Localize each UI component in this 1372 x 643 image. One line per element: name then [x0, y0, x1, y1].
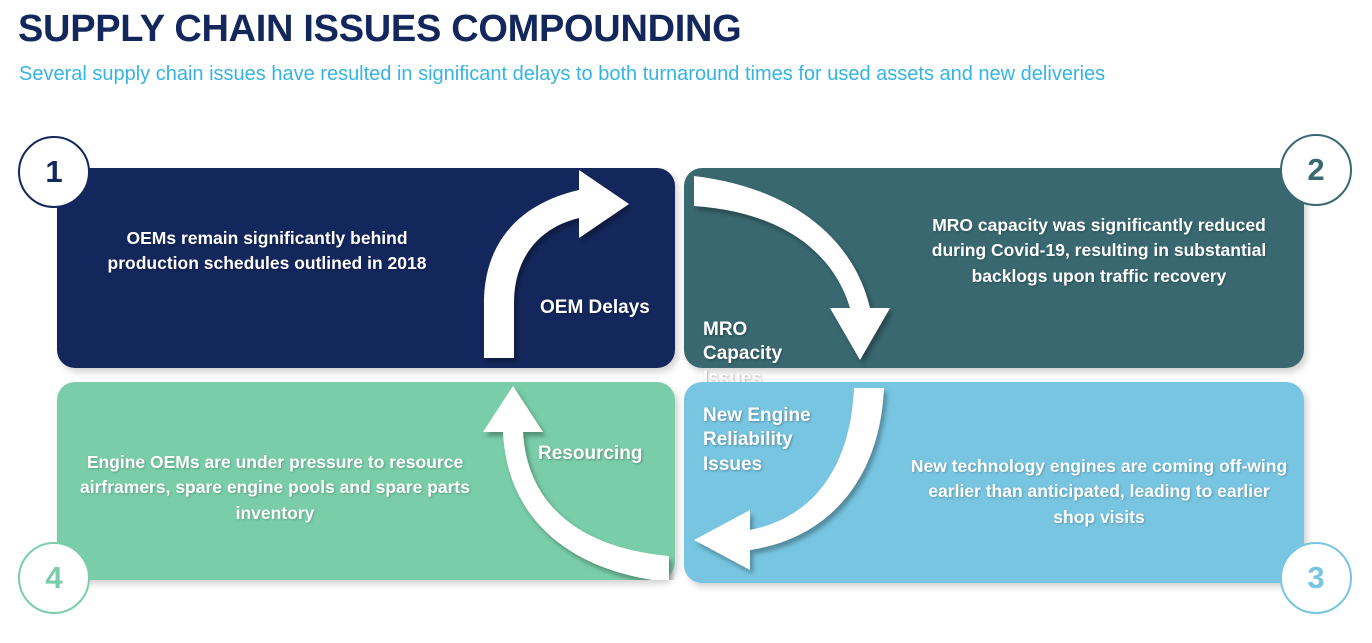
quadrant-2-body: MRO capacity was significantly reduced d… [904, 213, 1294, 289]
page-title: SUPPLY CHAIN ISSUES COMPOUNDING [18, 8, 741, 51]
page-subtitle: Several supply chain issues have resulte… [19, 63, 1105, 86]
quadrant-panel-1[interactable]: OEMs remain significantly behind product… [57, 168, 675, 368]
quadrant-2-arrow-label: MRO Capacity Issues [703, 318, 782, 391]
quadrant-4-arrow-label: Resourcing [538, 442, 643, 466]
step-badge-2[interactable]: 2 [1280, 134, 1352, 206]
step-badge-1[interactable]: 1 [18, 136, 90, 208]
quadrant-panel-3[interactable]: New technology engines are coming off-wi… [684, 382, 1304, 583]
quadrant-1-body: OEMs remain significantly behind product… [87, 226, 447, 277]
quadrant-panel-2[interactable]: MRO capacity was significantly reduced d… [684, 168, 1304, 368]
quadrant-3-arrow-label: New Engine Reliability Issues [703, 404, 811, 477]
cycle-diagram: OEMs remain significantly behind product… [0, 110, 1372, 643]
quadrant-3-body: New technology engines are coming off-wi… [909, 454, 1289, 530]
quadrant-4-body: Engine OEMs are under pressure to resour… [75, 450, 475, 526]
quadrant-1-arrow-label: OEM Delays [540, 296, 650, 320]
quadrant-panel-4[interactable]: Engine OEMs are under pressure to resour… [57, 382, 675, 580]
step-badge-4[interactable]: 4 [18, 542, 90, 614]
step-badge-3[interactable]: 3 [1280, 542, 1352, 614]
